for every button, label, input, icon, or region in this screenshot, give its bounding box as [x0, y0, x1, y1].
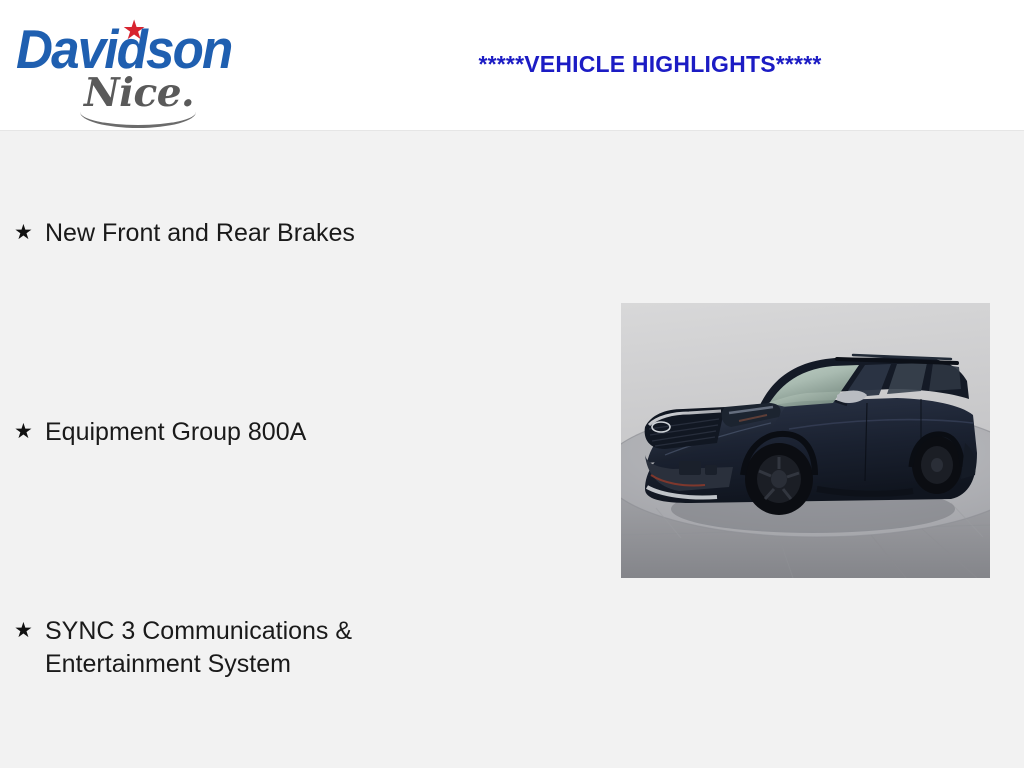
highlights-list: ★ New Front and Rear Brakes ★ Equipment …	[0, 131, 600, 768]
star-bullet-icon: ★	[14, 416, 45, 447]
highlight-text: Equipment Group 800A	[45, 416, 584, 449]
logo-script-text: Nice.	[84, 74, 194, 113]
highlight-text: New Front and Rear Brakes	[45, 217, 584, 250]
page-title: *****VEHICLE HIGHLIGHTS*****	[420, 51, 880, 78]
list-item: ★ New Front and Rear Brakes	[14, 217, 584, 250]
list-item: ★ Equipment Group 800A	[14, 416, 584, 449]
vehicle-photo[interactable]	[621, 303, 990, 578]
star-bullet-icon: ★	[14, 615, 45, 646]
highlight-text: SYNC 3 Communications & Entertainment Sy…	[45, 615, 584, 681]
logo-star-icon: ★	[122, 17, 146, 44]
vehicle-photo-image	[621, 303, 990, 578]
list-item: ★ SYNC 3 Communications & Entertainment …	[14, 615, 584, 681]
star-bullet-icon: ★	[14, 217, 45, 248]
dealer-logo[interactable]: Davidson ★ Nice.	[14, 8, 264, 123]
